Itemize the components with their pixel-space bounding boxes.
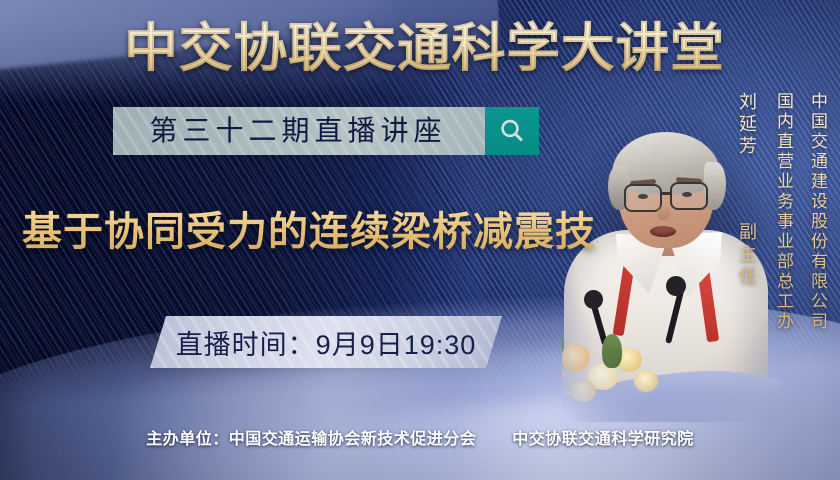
- series-label: 第三十二期直播讲座: [113, 107, 483, 155]
- speaker-company: 中国交通建设股份有限公司: [804, 92, 830, 332]
- organizer-primary: 主办单位：中国交通运输协会新技术促进分会: [146, 431, 476, 448]
- organizer-secondary: 中交协联交通科学研究院: [512, 431, 694, 448]
- speaker-credentials: 中国交通建设股份有限公司 国内直营业务事业部总工办 刘延芳 副主任: [734, 92, 832, 332]
- broadcast-time-label: 直播时间：9月9日19:30: [176, 323, 477, 362]
- lecture-poster: 中交协联交通科学大讲堂 第三十二期直播讲座 基于协同受力的连续梁桥减震技术 直播…: [0, 0, 840, 480]
- speaker-title: 副主任: [737, 222, 757, 288]
- broadcast-time-badge: 直播时间：9月9日19:30: [150, 316, 502, 368]
- lecture-topic: 基于协同受力的连续梁桥减震技术: [22, 204, 598, 260]
- page-title: 中交协联交通科学大讲堂: [124, 18, 723, 80]
- organizer-line: 主办单位：中国交通运输协会新技术促进分会 中交协联交通科学研究院: [0, 425, 840, 449]
- speaker-name: 刘延芳: [737, 92, 757, 158]
- search-icon: [497, 116, 527, 146]
- speaker-department: 国内直营业务事业部总工办: [770, 92, 796, 332]
- series-banner: 第三十二期直播讲座: [113, 107, 539, 155]
- search-button[interactable]: [485, 107, 539, 155]
- speaker-name-title: 刘延芳 副主任: [734, 92, 760, 288]
